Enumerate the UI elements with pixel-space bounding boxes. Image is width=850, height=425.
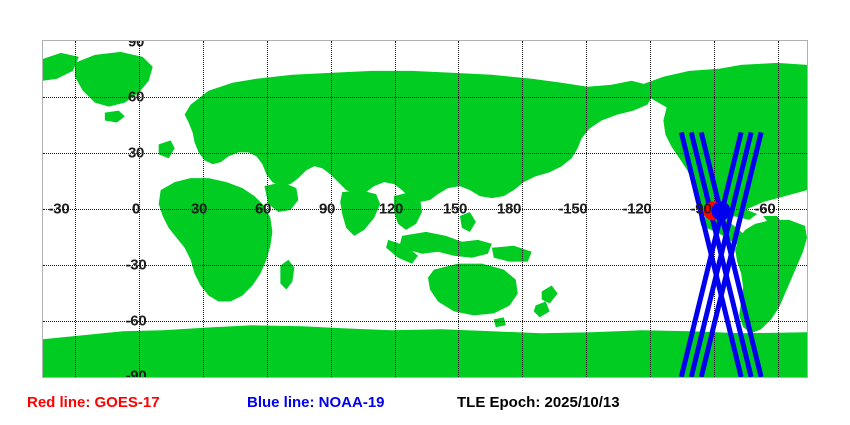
landmass-arabia xyxy=(264,182,298,212)
landmass-australia xyxy=(428,264,518,316)
landmass-eurasia xyxy=(185,71,654,202)
legend-caption: Red line: GOES-17 Blue line: NOAA-19 TLE… xyxy=(0,392,850,418)
landmass-iceland xyxy=(105,111,125,123)
landmass-new-guinea xyxy=(492,246,532,262)
landmass-tasmania xyxy=(494,317,506,327)
tle-epoch-label: TLE Epoch: 2025/10/13 xyxy=(457,392,620,414)
landmass-philippines xyxy=(460,212,476,232)
landmass-north-america-main xyxy=(663,63,807,224)
landmass-north-america xyxy=(43,53,79,81)
landmass-antarctica xyxy=(43,325,807,377)
landmass-new-zealand-south xyxy=(534,301,550,317)
map-landmass-layer xyxy=(43,41,807,377)
landmass-india xyxy=(340,190,380,236)
landmass-uk xyxy=(159,140,175,158)
landmass-new-zealand xyxy=(542,286,558,304)
landmass-south-america xyxy=(735,220,807,333)
legend-noaa19: Blue line: NOAA-19 xyxy=(247,392,385,414)
noaa19-marker xyxy=(712,202,731,221)
world-map-plot: -30 0 30 60 90 120 150 180 -150 -120 -90… xyxy=(42,40,808,378)
world-map-svg xyxy=(43,41,807,377)
landmass-cuba xyxy=(727,208,757,220)
legend-goes17: Red line: GOES-17 xyxy=(27,392,160,414)
landmass-southeast-asia xyxy=(394,192,422,230)
landmass-greenland xyxy=(75,52,153,107)
landmass-madagascar xyxy=(280,260,294,290)
landmass-africa xyxy=(159,178,273,301)
